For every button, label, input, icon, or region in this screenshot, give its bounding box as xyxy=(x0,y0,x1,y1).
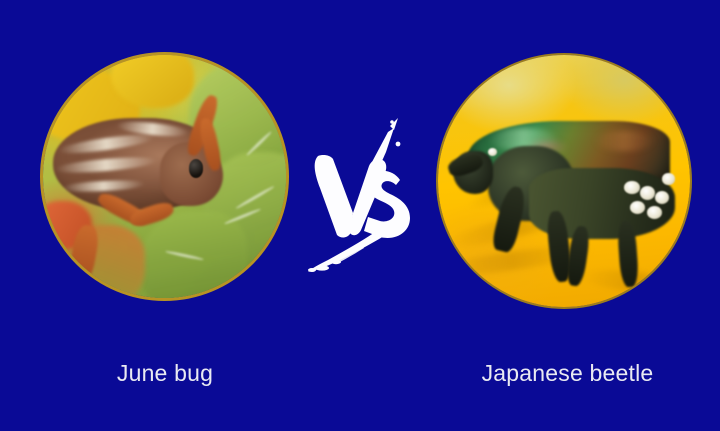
vs-brush-emblem xyxy=(306,118,416,273)
lateral-tuft xyxy=(488,148,497,156)
lateral-tuft xyxy=(630,201,645,214)
japanese-beetle-photo[interactable] xyxy=(438,55,690,307)
lateral-tuft xyxy=(624,181,639,194)
lateral-tuft xyxy=(655,191,669,204)
leaf xyxy=(140,211,247,298)
caption-june-bug: June bug xyxy=(0,360,330,387)
lateral-tuft xyxy=(640,186,655,200)
lateral-tuft xyxy=(647,206,662,219)
june-bug-eye xyxy=(189,159,204,177)
june-bug-photo[interactable] xyxy=(43,55,286,298)
elytra-sheen xyxy=(594,131,654,151)
versus-comparison-card: June bug xyxy=(0,0,720,431)
caption-japanese-beetle: Japanese beetle xyxy=(400,360,720,387)
lateral-tuft xyxy=(662,173,675,184)
